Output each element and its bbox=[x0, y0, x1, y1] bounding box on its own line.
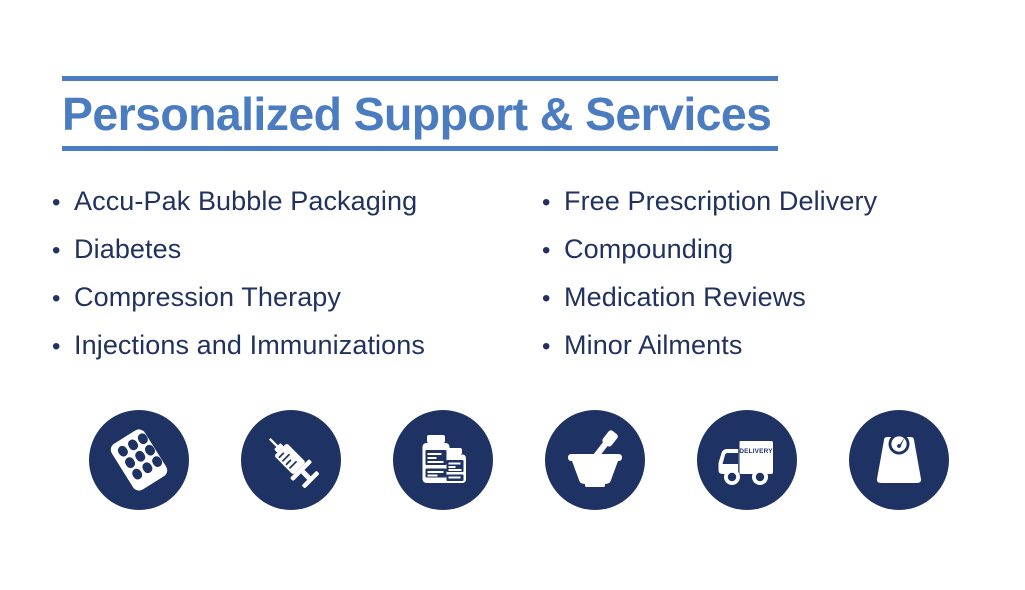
pill-bottles-icon bbox=[393, 410, 493, 510]
list-item: • Medication Reviews bbox=[542, 274, 982, 322]
truck-delivery-label: DELIVERY bbox=[739, 448, 773, 455]
list-item: • Free Prescription Delivery bbox=[542, 178, 982, 226]
bullet-icon: • bbox=[542, 276, 564, 322]
service-label: Accu-Pak Bubble Packaging bbox=[74, 178, 417, 224]
slide-canvas: Personalized Support & Services • Accu-P… bbox=[0, 0, 1025, 590]
service-label: Injections and Immunizations bbox=[74, 322, 425, 368]
page-title: Personalized Support & Services bbox=[62, 81, 785, 146]
bullet-icon: • bbox=[52, 228, 74, 274]
service-label: Medication Reviews bbox=[564, 274, 806, 320]
service-label: Compounding bbox=[564, 226, 733, 272]
bullet-icon: • bbox=[542, 228, 564, 274]
list-item: • Minor Ailments bbox=[542, 322, 982, 370]
list-item: • Compounding bbox=[542, 226, 982, 274]
delivery-truck-icon: DELIVERY bbox=[697, 410, 797, 510]
syringe-icon bbox=[241, 410, 341, 510]
services-lists: • Accu-Pak Bubble Packaging • Diabetes •… bbox=[52, 178, 992, 370]
service-label: Minor Ailments bbox=[564, 322, 742, 368]
title-rule-bottom bbox=[62, 146, 778, 151]
page-title-block: Personalized Support & Services bbox=[62, 76, 778, 151]
bullet-icon: • bbox=[52, 324, 74, 370]
bullet-icon: • bbox=[52, 276, 74, 322]
blister-pack-icon bbox=[89, 410, 189, 510]
bullet-icon: • bbox=[542, 180, 564, 226]
service-label: Compression Therapy bbox=[74, 274, 341, 320]
services-left-column: • Accu-Pak Bubble Packaging • Diabetes •… bbox=[52, 178, 542, 370]
service-label: Diabetes bbox=[74, 226, 181, 272]
bullet-icon: • bbox=[52, 180, 74, 226]
list-item: • Injections and Immunizations bbox=[52, 322, 542, 370]
weight-scale-icon bbox=[849, 410, 949, 510]
mortar-pestle-icon bbox=[545, 410, 645, 510]
list-item: • Diabetes bbox=[52, 226, 542, 274]
service-icons-row: DELIVERY bbox=[89, 410, 949, 510]
service-label: Free Prescription Delivery bbox=[564, 178, 877, 224]
bullet-icon: • bbox=[542, 324, 564, 370]
list-item: • Accu-Pak Bubble Packaging bbox=[52, 178, 542, 226]
list-item: • Compression Therapy bbox=[52, 274, 542, 322]
services-right-column: • Free Prescription Delivery • Compoundi… bbox=[542, 178, 982, 370]
